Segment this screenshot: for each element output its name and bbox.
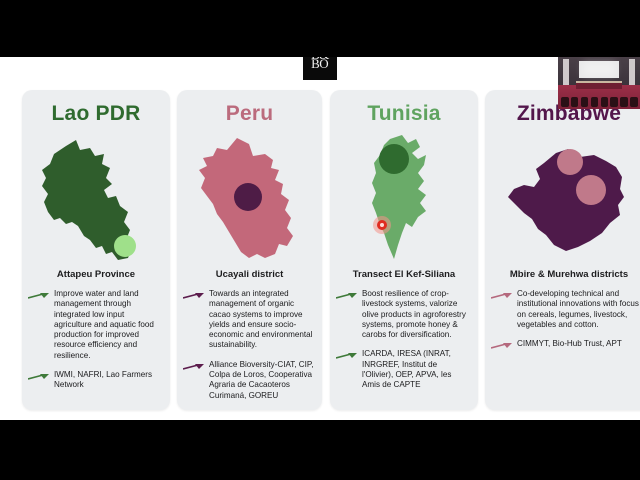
point-item: Alliance Bioversity-CIAT, CIP, Colpa de …	[183, 360, 314, 401]
point-text: Alliance Bioversity-CIAT, CIP, Colpa de …	[209, 360, 314, 401]
points-list: Boost resilience of crop-livestock syste…	[330, 289, 478, 391]
country-card-tunisia[interactable]: Tunisia Transect El Kef-Siliana	[330, 90, 478, 410]
country-map-peru	[177, 132, 322, 267]
country-title: Peru	[177, 102, 322, 126]
slide-canvas: Lao PDR Attapeu Province Improve water a…	[0, 57, 640, 420]
country-card-lao-pdr[interactable]: Lao PDR Attapeu Province Improve water a…	[22, 90, 170, 410]
country-cards-row: Lao PDR Attapeu Province Improve water a…	[0, 90, 640, 410]
country-card-zimbabwe[interactable]: Zimbabwe Mbire & Murehwa districts Co-de	[485, 90, 640, 410]
map-marker-icon	[114, 235, 136, 257]
point-text: Co-developing technical and institutiona…	[517, 289, 640, 330]
arrow-right-icon	[183, 289, 205, 301]
point-text: Boost resilience of crop-livestock syste…	[362, 289, 470, 340]
map-shape-icon	[498, 139, 640, 261]
logo-line-2: BO	[311, 59, 329, 68]
arrow-right-icon	[336, 349, 358, 361]
point-item: IWMI, NAFRI, Lao Farmers Network	[28, 370, 162, 391]
point-item: CIMMYT, Bio-Hub Trust, APT	[491, 339, 640, 351]
arrow-right-icon	[491, 339, 513, 351]
arrow-right-icon	[336, 289, 358, 301]
arrow-right-icon	[491, 289, 513, 301]
point-text: CIMMYT, Bio-Hub Trust, APT	[517, 339, 622, 349]
point-text: Towards an integrated management of orga…	[209, 289, 314, 351]
cursor-marker-icon	[373, 216, 391, 234]
country-title: Lao PDR	[22, 102, 170, 126]
map-marker-icon	[576, 175, 606, 205]
points-list: Co-developing technical and institutiona…	[485, 289, 640, 351]
letterbox-bottom	[0, 420, 640, 480]
country-map-lao-pdr	[22, 132, 170, 267]
map-shape-icon	[32, 134, 160, 266]
point-item: Towards an integrated management of orga…	[183, 289, 314, 351]
point-item: ICARDA, IRESA (INRAT, INRGREF, Institut …	[336, 349, 470, 390]
country-map-tunisia	[330, 132, 478, 267]
map-shape-icon	[187, 134, 313, 266]
point-text: ICARDA, IRESA (INRAT, INRGREF, Institut …	[362, 349, 470, 390]
map-marker-icon	[379, 144, 409, 174]
region-title: Transect El Kef-Siliana	[330, 269, 478, 280]
region-title: Attapeu Province	[22, 269, 170, 280]
country-map-zimbabwe	[485, 132, 640, 267]
letterbox-top	[0, 0, 640, 57]
map-shape-icon	[346, 133, 462, 267]
video-feed-thumbnail[interactable]	[558, 57, 640, 109]
map-marker-icon	[234, 183, 262, 211]
country-card-peru[interactable]: Peru Ucayali district Towards an integra…	[177, 90, 322, 410]
region-title: Mbire & Murehwa districts	[485, 269, 640, 280]
arrow-right-icon	[28, 289, 50, 301]
points-list: Towards an integrated management of orga…	[177, 289, 322, 401]
screen-glow	[583, 62, 616, 76]
points-list: Improve water and land management throug…	[22, 289, 170, 391]
point-text: Improve water and land management throug…	[54, 289, 162, 361]
country-title: Tunisia	[330, 102, 478, 126]
slide-stage: Lao PDR Attapeu Province Improve water a…	[0, 0, 640, 480]
arrow-right-icon	[183, 360, 205, 372]
map-marker-icon	[557, 149, 583, 175]
panel-table	[576, 81, 622, 89]
arrow-right-icon	[28, 370, 50, 382]
point-item: Boost resilience of crop-livestock syste…	[336, 289, 470, 340]
audience-seats	[558, 92, 640, 109]
point-item: Co-developing technical and institutiona…	[491, 289, 640, 330]
point-item: Improve water and land management throug…	[28, 289, 162, 361]
region-title: Ucayali district	[177, 269, 322, 280]
point-text: IWMI, NAFRI, Lao Farmers Network	[54, 370, 162, 391]
